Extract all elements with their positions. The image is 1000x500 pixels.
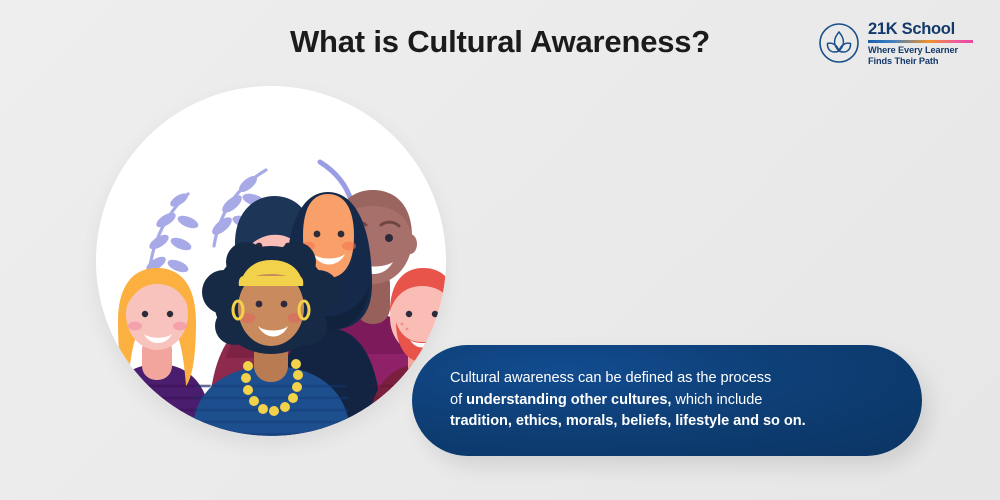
logo-tagline-line-1: Where Every Learner	[868, 45, 980, 56]
illustration-artwork	[96, 86, 446, 436]
definition-callout-text: Cultural awareness can be defined as the…	[450, 368, 890, 433]
callout-line-2-prefix: of	[450, 392, 466, 408]
callout-line-2-suffix: which include	[671, 392, 762, 408]
callout-line-2-bold: understanding other cultures,	[466, 392, 671, 408]
diverse-group-illustration	[96, 86, 446, 436]
brand-logo[interactable]: 21K School Where Every Learner Finds The…	[818, 20, 978, 68]
page-canvas: What is Cultural Awareness? 21K School W…	[0, 0, 1000, 500]
definition-callout-box: Cultural awareness can be defined as the…	[412, 345, 922, 456]
logo-gradient-rule	[868, 40, 973, 43]
logo-text-block: 21K School Where Every Learner Finds The…	[868, 20, 980, 67]
lotus-circle-logo-icon	[818, 22, 860, 64]
callout-line-3-bold: tradition, ethics, morals, beliefs, life…	[450, 413, 806, 429]
logo-tagline-line-2: Finds Their Path	[868, 56, 980, 67]
callout-line-1: Cultural awareness can be defined as the…	[450, 370, 771, 386]
logo-brand-name: 21K School	[868, 20, 980, 39]
